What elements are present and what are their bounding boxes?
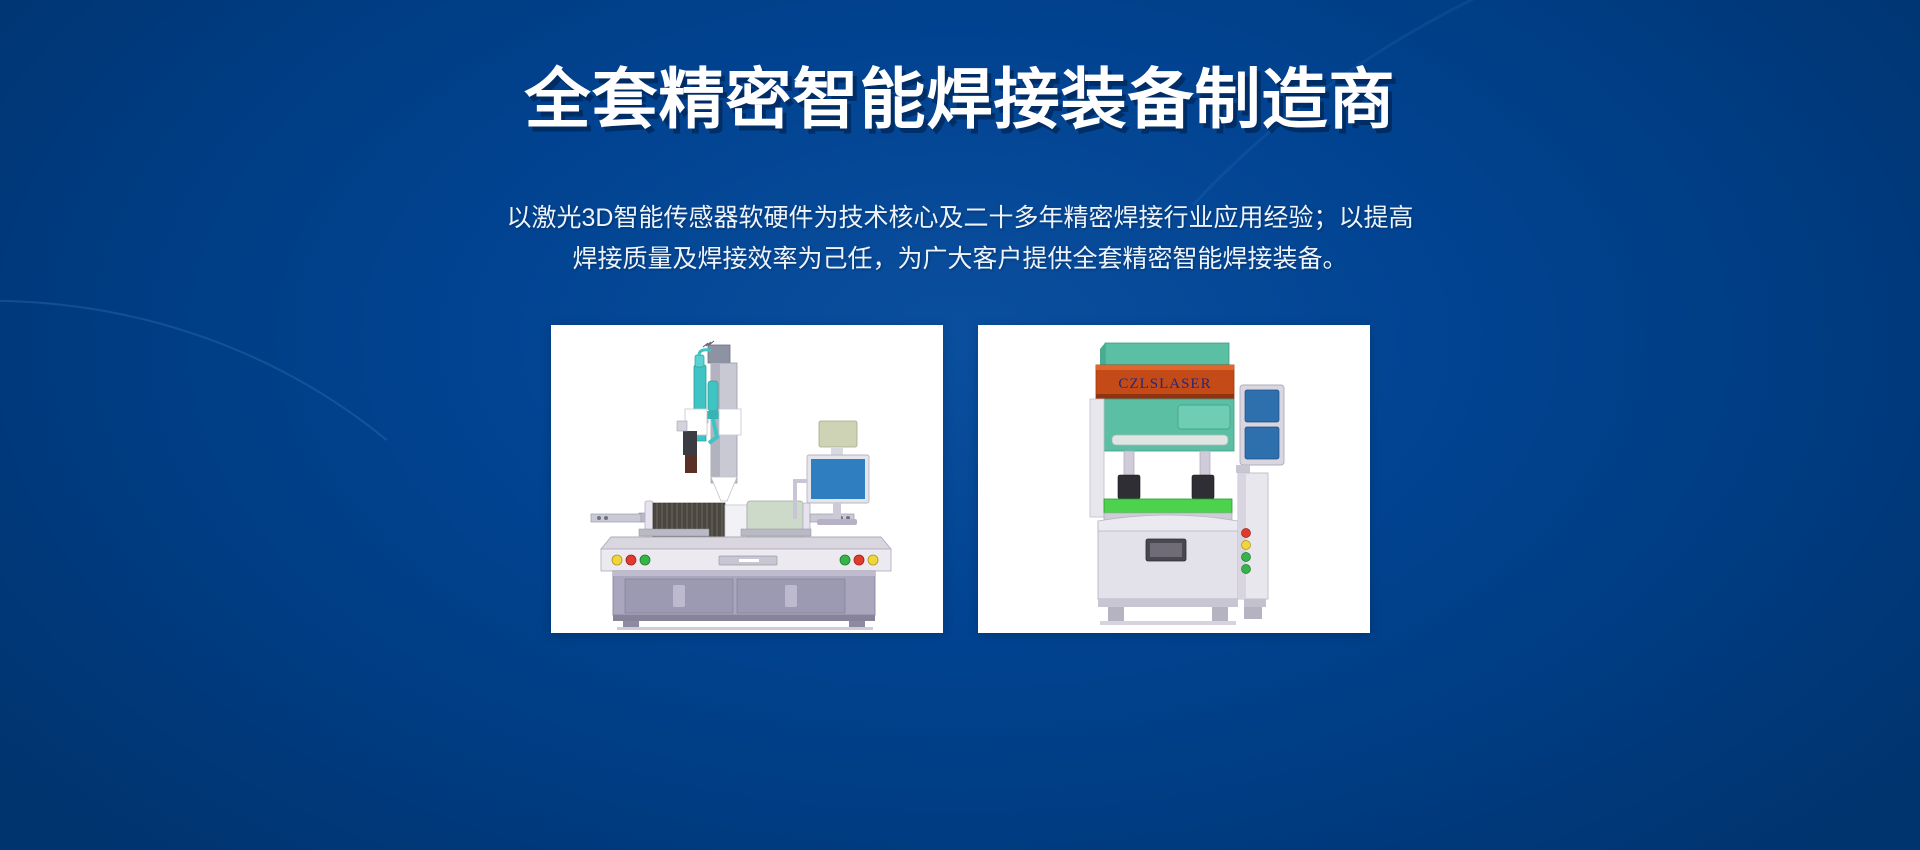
product-card-czlslaser-workstation[interactable]: CZLSLASER 精密焊接工作站 — 带双显示屏机柜 CZLSLASER (978, 325, 1370, 633)
page-subtitle: 以激光3D智能传感器软硬件为技术核心及二十多年精密焊接行业应用经验；以提高 焊接… (500, 198, 1420, 280)
czlslaser-workstation-illustration: CZLSLASER (978, 325, 1370, 633)
operator-screens (1236, 385, 1284, 473)
subtitle-line-1: 以激光3D智能传感器软硬件为技术核心及二十多年精密焊接行业应用经验；以提高 (500, 198, 1420, 239)
subtitle-line-2: 焊接质量及焊接效率为己任，为广大客户提供全套精密智能焊接装备。 (500, 239, 1420, 280)
indicator-light-cluster-right (840, 555, 878, 565)
laser-welding-machine-illustration (551, 325, 943, 633)
product-image-row: 精密激光焊接机 — 带双卡盘旋转工作台与触摸屏控制器 (0, 325, 1920, 633)
brand-banner: CZLSLASER (1096, 365, 1234, 399)
hero-banner: 全套精密智能焊接装备制造商 以激光3D智能传感器软硬件为技术核心及二十多年精密焊… (0, 0, 1920, 850)
product-card-laser-welding-machine[interactable]: 精密激光焊接机 — 带双卡盘旋转工作台与触摸屏控制器 (551, 325, 943, 633)
page-title: 全套精密智能焊接装备制造商 (0, 66, 1920, 132)
brand-label: CZLSLASER (1118, 376, 1211, 392)
indicator-light-cluster-left (612, 555, 650, 565)
